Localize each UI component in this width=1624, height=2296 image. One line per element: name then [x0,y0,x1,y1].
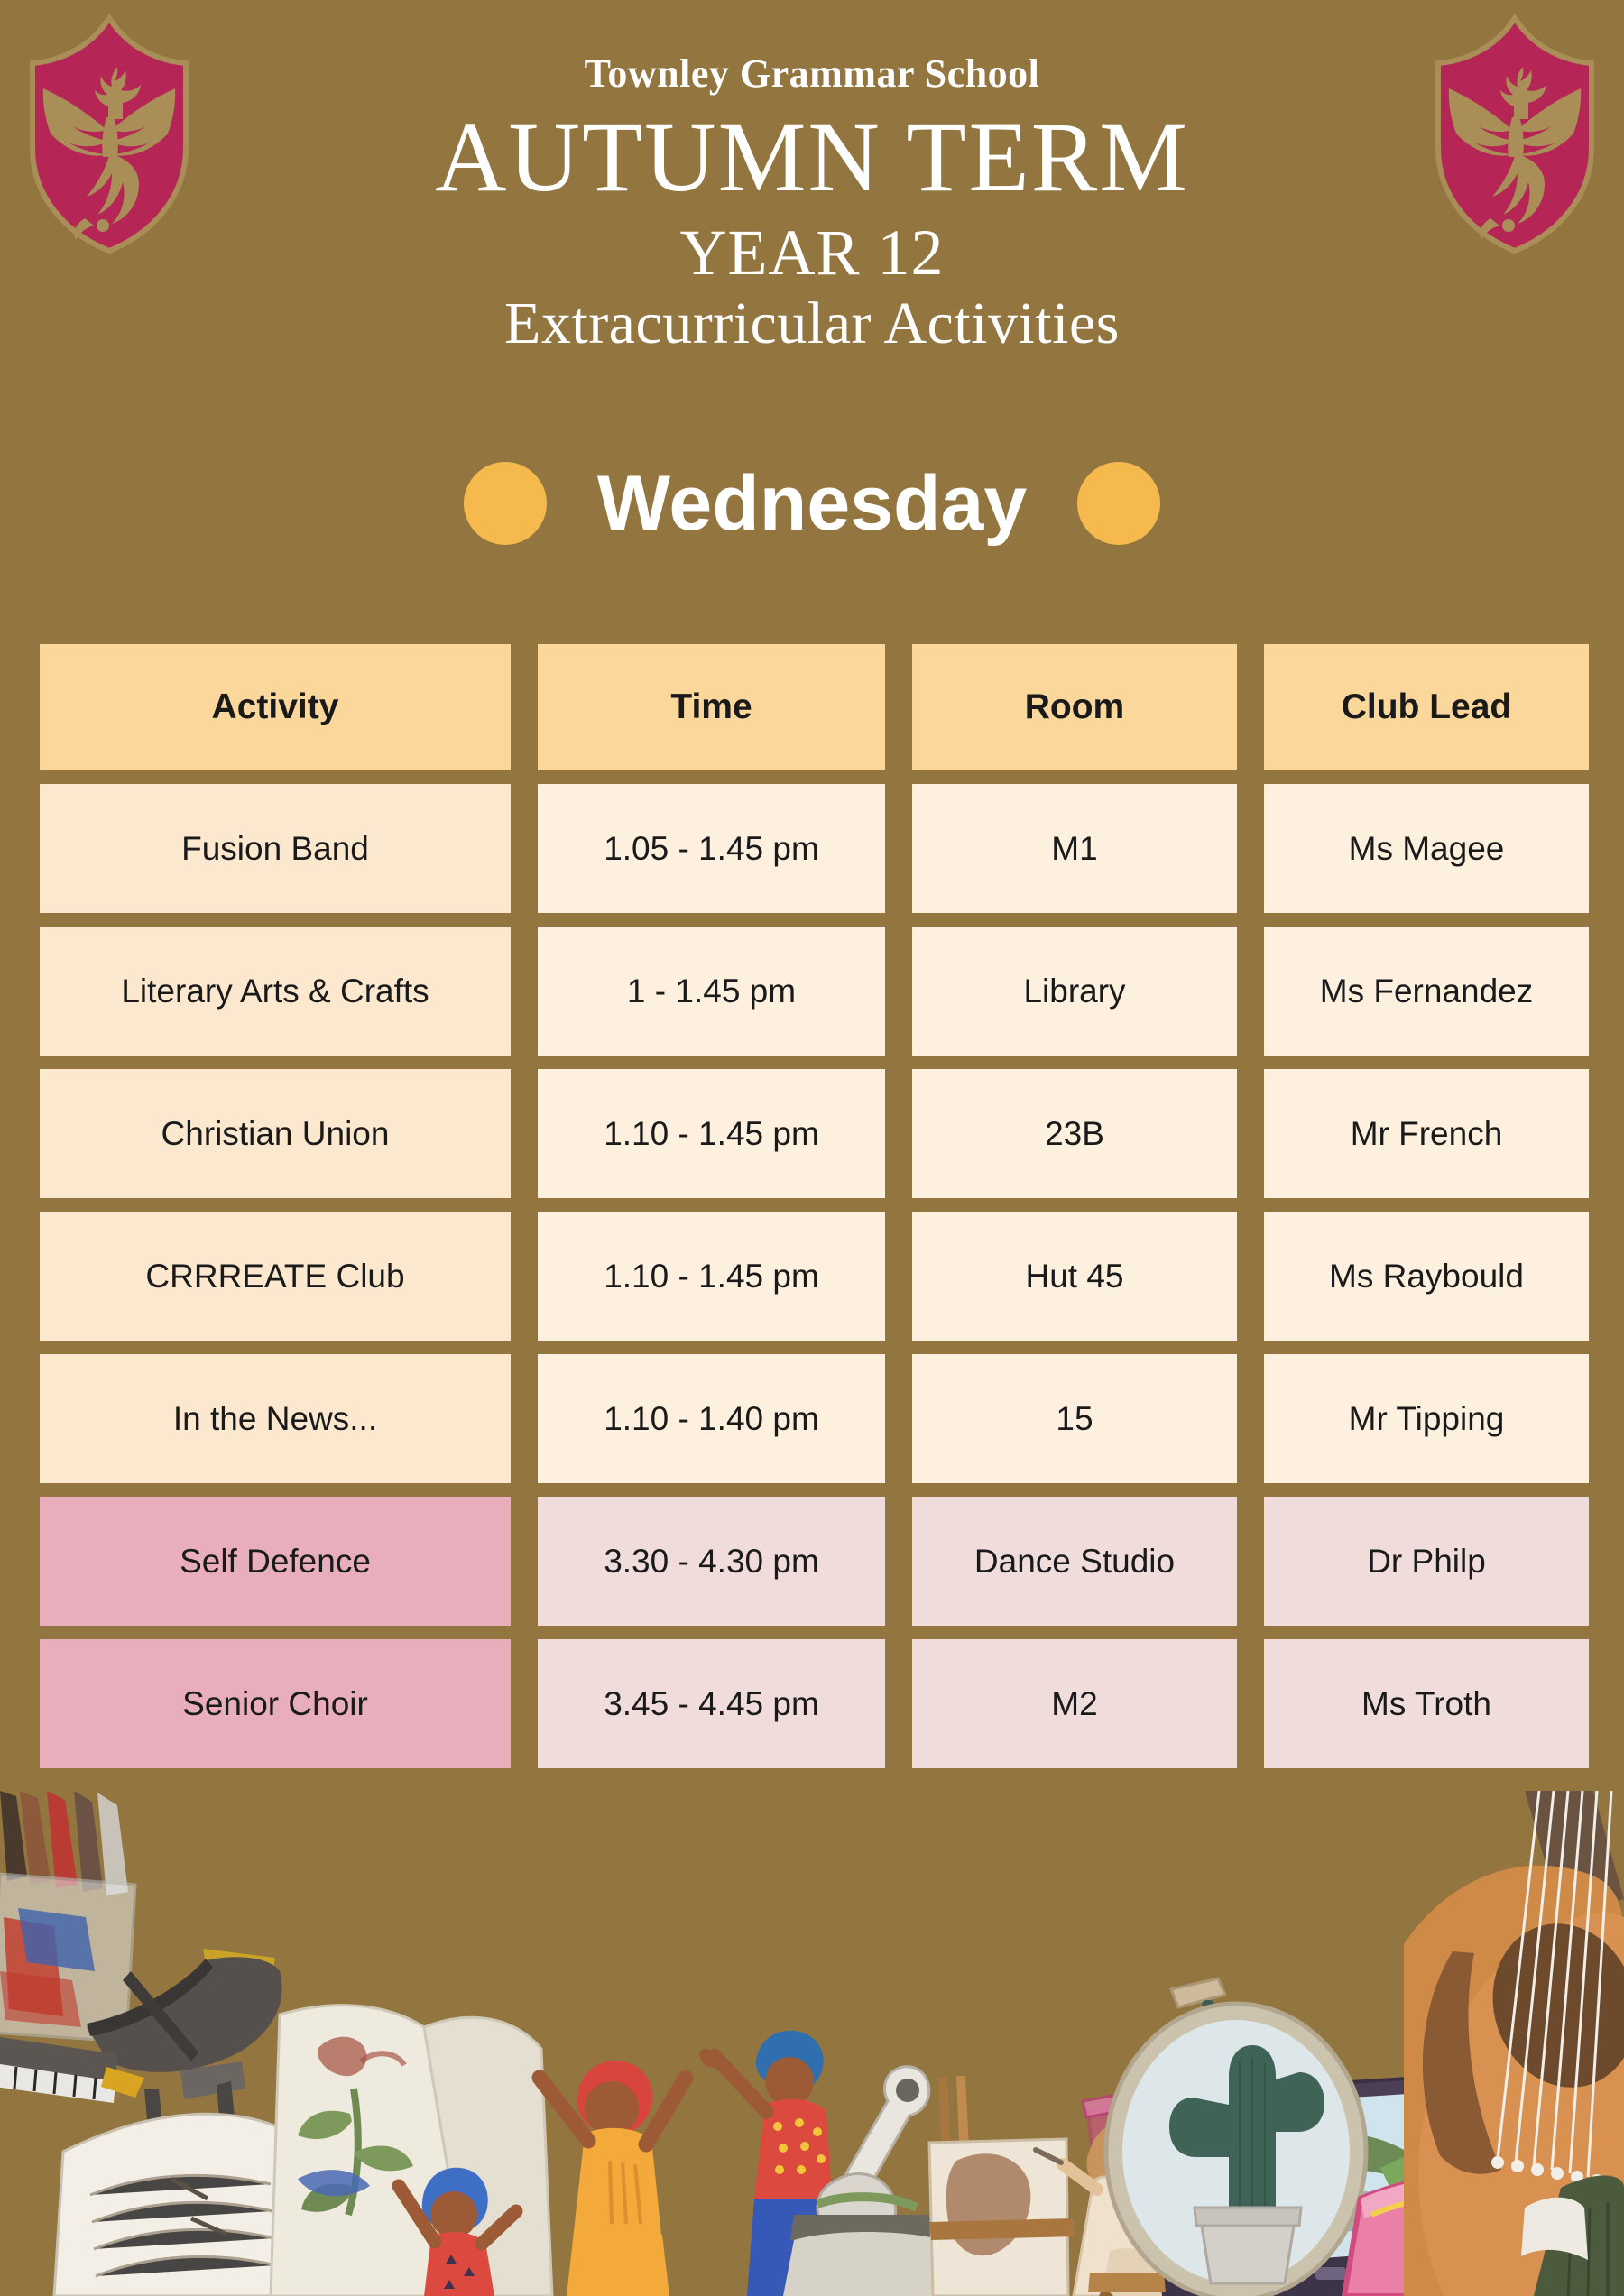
schedule-table: Activity Time Room Club Lead Fusion Band… [40,644,1584,1768]
cell-activity: Fusion Band [40,784,511,913]
laptop-icon [1148,2078,1480,2296]
table-row: Self Defence 3.30 - 4.30 pm Dance Studio… [40,1497,1584,1626]
botanical-book-icon [271,2006,552,2296]
day-name: Wednesday [597,465,1027,542]
column-header-activity: Activity [40,644,511,770]
cell-activity: Literary Arts & Crafts [40,927,511,1056]
cell-time: 1.10 - 1.45 pm [538,1212,885,1341]
bottom-illustration [0,1791,1624,2296]
cell-room: 23B [912,1069,1237,1198]
flask-icon [947,2144,1061,2296]
microscope-icon [783,2067,949,2296]
cell-club-lead: Ms Magee [1264,784,1589,913]
reaching-person-icon [700,2031,839,2296]
grand-piano-icon [0,1949,282,2215]
pencil-case-icon [1344,2117,1610,2296]
column-header-time: Time [538,644,885,770]
dancing-person-icon [399,2168,516,2296]
cell-time: 1 - 1.45 pm [538,927,885,1056]
school-name: Townley Grammar School [0,54,1624,94]
cell-time: 3.45 - 4.45 pm [538,1639,885,1768]
table-header-row: Activity Time Room Club Lead [40,644,1584,770]
cell-activity: Christian Union [40,1069,511,1198]
cell-room: M1 [912,784,1237,913]
cell-club-lead: Mr Tipping [1264,1354,1589,1483]
cell-time: 3.30 - 4.30 pm [538,1497,885,1626]
cell-club-lead: Dr Philp [1264,1497,1589,1626]
column-header-club-lead: Club Lead [1264,644,1589,770]
decorative-circle-right [1077,462,1160,545]
cell-room: 15 [912,1354,1237,1483]
cell-room: Hut 45 [912,1212,1237,1341]
table-row: CRRREATE Club 1.10 - 1.45 pm Hut 45 Ms R… [40,1212,1584,1341]
cell-room: M2 [912,1639,1237,1768]
cell-time: 1.10 - 1.40 pm [538,1354,885,1483]
table-row: In the News... 1.10 - 1.40 pm 15 Mr Tipp… [40,1354,1584,1483]
table-row: Christian Union 1.10 - 1.45 pm 23B Mr Fr… [40,1069,1584,1198]
cell-time: 1.10 - 1.45 pm [538,1069,885,1198]
cell-activity: CRRREATE Club [40,1212,511,1341]
day-banner: Wednesday [0,462,1624,545]
cell-club-lead: Ms Troth [1264,1639,1589,1768]
cell-club-lead: Ms Raybould [1264,1212,1589,1341]
table-row: Senior Choir 3.45 - 4.45 pm M2 Ms Troth [40,1639,1584,1768]
cell-time: 1.05 - 1.45 pm [538,784,885,913]
cell-club-lead: Mr French [1264,1069,1589,1198]
paintbrush-jar-icon [0,1791,135,2042]
cell-room: Library [912,927,1237,1056]
rolled-fabric-icon [1521,2175,1624,2296]
test-tube-icon [1083,2092,1172,2296]
decorative-circle-left [464,462,547,545]
year-title: YEAR 12 [0,217,1624,290]
cell-room: Dance Studio [912,1497,1237,1626]
cell-activity: Self Defence [40,1497,511,1626]
cell-activity: Senior Choir [40,1639,511,1768]
table-row: Fusion Band 1.05 - 1.45 pm M1 Ms Magee [40,784,1584,913]
cell-club-lead: Ms Fernandez [1264,927,1589,1056]
term-title: AUTUMN TERM [0,99,1624,217]
easel-painter-icon [929,2076,1166,2296]
table-row: Literary Arts & Crafts 1 - 1.45 pm Libra… [40,927,1584,1056]
acoustic-guitar-icon [1404,1791,1624,2296]
column-header-room: Room [912,644,1237,770]
cell-activity: In the News... [40,1354,511,1483]
embroidery-hoop-cactus-icon [1106,1978,1366,2296]
cheering-person-icon [540,2061,686,2296]
poster-subtitle: Extracurricular Activities [0,289,1624,359]
poster-header: Townley Grammar School AUTUMN TERM YEAR … [0,54,1624,359]
open-book-icon [54,2114,505,2296]
